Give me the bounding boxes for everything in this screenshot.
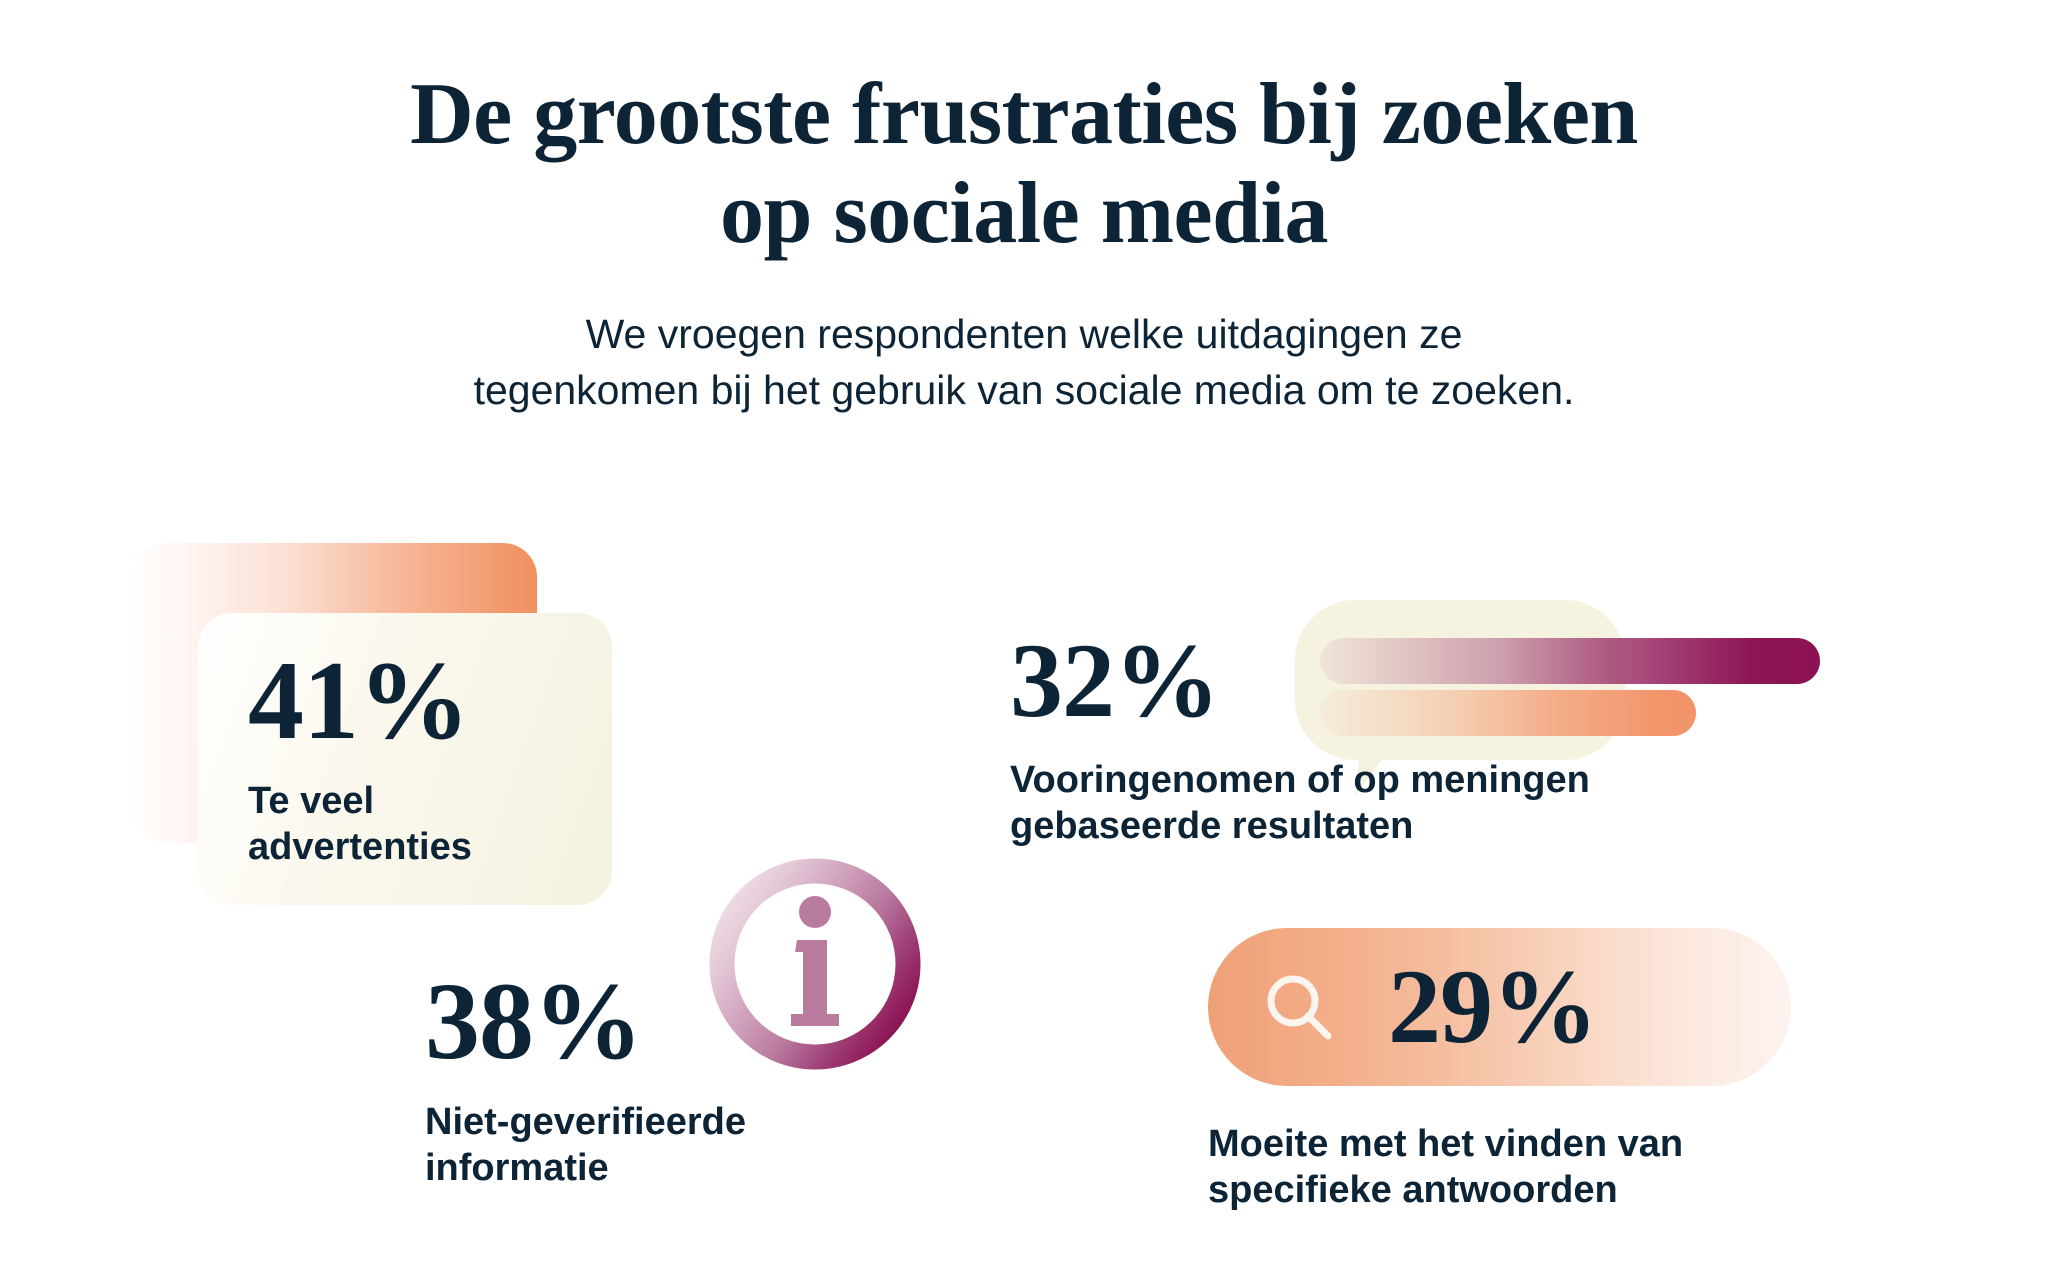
stat-label-biased-results: Vooringenomen of op meningen gebaseerde … <box>1010 758 1730 849</box>
stat-label-too-many-ads-line2: advertenties <box>248 825 578 871</box>
stat-label-unverified-information: Niet-geverifieerde informatie <box>425 1100 945 1191</box>
search-icon <box>1262 970 1336 1044</box>
stat-label-too-many-ads-line1: Te veel <box>248 779 578 825</box>
statistics-section: 41% Te veel advertenties 32% Vooringenom… <box>0 0 2048 1283</box>
stat-value-hard-to-find-answers: 29% <box>1388 954 1597 1060</box>
stat-label-unverified-information-line1: Niet-geverifieerde <box>425 1100 945 1146</box>
stat-label-biased-results-line2: gebaseerde resultaten <box>1010 804 1730 850</box>
stat-label-hard-to-find-answers-line1: Moeite met het vinden van <box>1208 1122 1848 1168</box>
search-pill-icon: 29% <box>1208 928 1791 1086</box>
stat-item-unverified-information: 38% Niet-geverifieerde informatie <box>425 966 945 1191</box>
stat-label-biased-results-line1: Vooringenomen of op meningen <box>1010 758 1730 804</box>
stat-label-hard-to-find-answers-line2: specifieke antwoorden <box>1208 1168 1848 1214</box>
stat-value-too-many-ads: 41% <box>248 645 578 757</box>
stat-label-hard-to-find-answers: Moeite met het vinden van specifieke ant… <box>1208 1122 1848 1213</box>
stat-label-unverified-information-line2: informatie <box>425 1146 945 1192</box>
stat-item-too-many-ads: 41% Te veel advertenties <box>248 645 578 870</box>
stat-label-too-many-ads: Te veel advertenties <box>248 779 578 870</box>
stat-item-biased-results: 32% Vooringenomen of op meningen gebasee… <box>1010 628 1730 849</box>
stat-value-unverified-information: 38% <box>425 966 945 1076</box>
stat-value-biased-results: 32% <box>1010 628 1730 734</box>
